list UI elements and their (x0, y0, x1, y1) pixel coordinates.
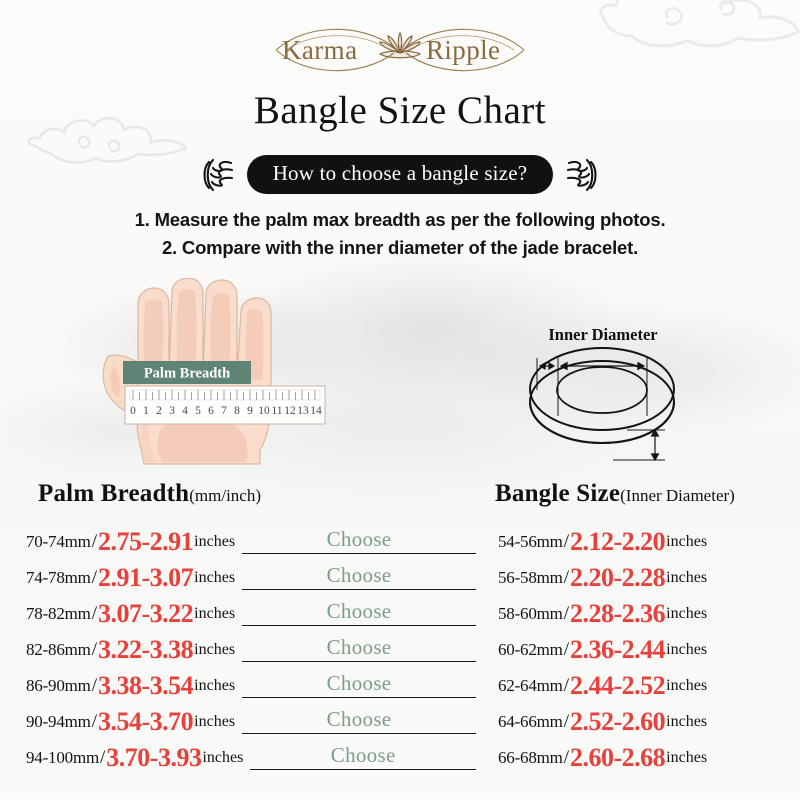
left_table-inch-value: 2.75-2.91 (98, 529, 193, 555)
lotus-icon (380, 33, 420, 58)
choose-underline (242, 697, 476, 698)
unit-label: inches (665, 605, 707, 623)
right_table-inch-value: 2.12-2.20 (570, 529, 665, 555)
table-row: 82-86mm/3.22-3.38inchesChoose (26, 632, 476, 668)
table-row: 66-68mm/2.60-2.68inches (492, 740, 792, 776)
choose-label[interactable]: Choose (327, 635, 392, 660)
svg-text:4: 4 (182, 405, 188, 417)
choose-label[interactable]: Choose (327, 527, 392, 552)
table-row: 60-62mm/2.36-2.44inches (492, 632, 792, 668)
flourish-ornament-left-icon (201, 156, 235, 194)
separator-slash: / (99, 747, 106, 769)
choose-underline (242, 661, 476, 662)
left_table-inch-value: 3.22-3.38 (98, 637, 193, 663)
instruction-step-1: 1. Measure the palm max breadth as per t… (0, 206, 800, 234)
brand-logo: Karma Ripple (0, 22, 800, 78)
svg-text:0: 0 (130, 405, 136, 417)
left_table-mm-value: 90-94mm (26, 712, 91, 732)
choose-underline (250, 769, 476, 770)
right_table-mm-value: 66-68mm (498, 748, 563, 768)
unit-label: inches (193, 641, 235, 659)
unit-label: inches (193, 713, 235, 731)
table-row: 62-64mm/2.44-2.52inches (492, 668, 792, 704)
svg-text:3: 3 (169, 405, 175, 417)
separator-slash: / (563, 531, 570, 553)
right_table-mm-value: 56-58mm (498, 568, 563, 588)
separator-slash: / (91, 567, 98, 589)
right-column-header: Bangle Size(Inner Diameter) (495, 480, 735, 508)
svg-text:14: 14 (310, 405, 322, 417)
left_table-mm-value: 70-74mm (26, 532, 91, 552)
subtitle-banner: How to choose a bangle size? (0, 155, 800, 194)
unit-label: inches (193, 533, 235, 551)
size-chart-page: Karma Ripple Bangle Size Chart (0, 0, 800, 800)
separator-slash: / (563, 747, 570, 769)
separator-slash: / (563, 675, 570, 697)
left-header-sub: (mm/inch) (189, 486, 261, 505)
svg-text:6: 6 (208, 405, 214, 417)
left_table-mm-value: 82-86mm (26, 640, 91, 660)
choose-field[interactable]: Choose (242, 635, 476, 665)
table-row: 56-58mm/2.20-2.28inches (492, 560, 792, 596)
table-row: 94-100mm/3.70-3.93inchesChoose (26, 740, 476, 776)
choose-underline (242, 589, 476, 590)
choose-field[interactable]: Choose (242, 707, 476, 737)
brand-word-2: Ripple (426, 35, 500, 65)
subtitle-pill: How to choose a bangle size? (247, 155, 554, 194)
left_table-mm-value: 94-100mm (26, 748, 99, 768)
right_table-inch-value: 2.60-2.68 (570, 745, 665, 771)
right-header-main: Bangle Size (495, 480, 620, 507)
bangle-size-table: 54-56mm/2.12-2.20inches56-58mm/2.20-2.28… (492, 524, 792, 776)
instruction-list: 1. Measure the palm max breadth as per t… (0, 206, 800, 262)
left-header-main: Palm Breadth (38, 480, 189, 507)
choose-label[interactable]: Choose (327, 599, 392, 624)
unit-label: inches (193, 677, 235, 695)
palm-breadth-label: Palm Breadth (123, 361, 251, 384)
choose-label[interactable]: Choose (327, 707, 392, 732)
unit-label: inches (665, 677, 707, 695)
unit-label: inches (201, 749, 243, 767)
left_table-inch-value: 2.91-3.07 (98, 565, 193, 591)
unit-label: inches (665, 533, 707, 551)
choose-field[interactable]: Choose (250, 743, 476, 773)
brand-logo-graphic: Karma Ripple (270, 21, 530, 79)
table-row: 54-56mm/2.12-2.20inches (492, 524, 792, 560)
ruler-graphic: 012 345 678 91011 121314 (125, 386, 325, 424)
right_table-mm-value: 54-56mm (498, 532, 563, 552)
separator-slash: / (91, 711, 98, 733)
table-row: 74-78mm/2.91-3.07inchesChoose (26, 560, 476, 596)
table-row: 78-82mm/3.07-3.22inchesChoose (26, 596, 476, 632)
left_table-inch-value: 3.70-3.93 (106, 745, 201, 771)
separator-slash: / (91, 639, 98, 661)
left_table-inch-value: 3.38-3.54 (98, 673, 193, 699)
right_table-inch-value: 2.36-2.44 (570, 637, 665, 663)
right_table-inch-value: 2.44-2.52 (570, 673, 665, 699)
svg-text:10: 10 (258, 405, 270, 417)
left_table-inch-value: 3.54-3.70 (98, 709, 193, 735)
right_table-inch-value: 2.20-2.28 (570, 565, 665, 591)
unit-label: inches (193, 605, 235, 623)
unit-label: inches (665, 569, 707, 587)
svg-text:11: 11 (271, 405, 282, 417)
left_table-mm-value: 78-82mm (26, 604, 91, 624)
choose-label[interactable]: Choose (327, 563, 392, 588)
brand-word-1: Karma (282, 35, 357, 65)
unit-label: inches (193, 569, 235, 587)
choose-label[interactable]: Choose (327, 671, 392, 696)
svg-text:7: 7 (221, 405, 227, 417)
choose-label[interactable]: Choose (331, 743, 396, 768)
left-column-header: Palm Breadth(mm/inch) (38, 480, 261, 508)
table-row: 58-60mm/2.28-2.36inches (492, 596, 792, 632)
separator-slash: / (91, 531, 98, 553)
left_table-inch-value: 3.07-3.22 (98, 601, 193, 627)
choose-field[interactable]: Choose (242, 599, 476, 629)
svg-text:8: 8 (234, 405, 240, 417)
svg-text:2: 2 (156, 405, 162, 417)
bangle-inner-diameter-illustration: Inner Diameter (495, 322, 725, 477)
svg-text:13: 13 (297, 405, 309, 417)
separator-slash: / (91, 675, 98, 697)
separator-slash: / (563, 711, 570, 733)
choose-underline (242, 625, 476, 626)
choose-field[interactable]: Choose (242, 563, 476, 593)
choose-underline (242, 553, 476, 554)
table-row: 90-94mm/3.54-3.70inchesChoose (26, 704, 476, 740)
svg-text:9: 9 (247, 405, 253, 417)
inner-diameter-label: Inner Diameter (548, 325, 657, 344)
svg-text:5: 5 (195, 405, 201, 417)
right_table-mm-value: 64-66mm (498, 712, 563, 732)
unit-label: inches (665, 749, 707, 767)
right_table-mm-value: 60-62mm (498, 640, 563, 660)
choose-field[interactable]: Choose (242, 671, 476, 701)
right_table-mm-value: 62-64mm (498, 676, 563, 696)
unit-label: inches (665, 641, 707, 659)
flourish-ornament-right-icon (565, 156, 599, 194)
svg-text:12: 12 (284, 405, 296, 417)
separator-slash: / (563, 639, 570, 661)
left_table-mm-value: 86-90mm (26, 676, 91, 696)
right-header-sub: (Inner Diameter) (620, 486, 735, 505)
page-title: Bangle Size Chart (0, 88, 800, 133)
right_table-mm-value: 58-60mm (498, 604, 563, 624)
svg-text:1: 1 (143, 405, 149, 417)
palm-breadth-label-text: Palm Breadth (144, 366, 230, 382)
left_table-mm-value: 74-78mm (26, 568, 91, 588)
table-row: 70-74mm/2.75-2.91inchesChoose (26, 524, 476, 560)
unit-label: inches (665, 713, 707, 731)
right_table-inch-value: 2.28-2.36 (570, 601, 665, 627)
separator-slash: / (563, 603, 570, 625)
choose-underline (242, 733, 476, 734)
instruction-step-2: 2. Compare with the inner diameter of th… (0, 234, 800, 262)
palm-breadth-table: 70-74mm/2.75-2.91inchesChoose74-78mm/2.9… (26, 524, 476, 776)
choose-field[interactable]: Choose (242, 527, 476, 557)
table-row: 86-90mm/3.38-3.54inchesChoose (26, 668, 476, 704)
table-row: 64-66mm/2.52-2.60inches (492, 704, 792, 740)
separator-slash: / (91, 603, 98, 625)
right_table-inch-value: 2.52-2.60 (570, 709, 665, 735)
hand-measurement-illustration: Palm Breadth 012 345 678 91011 121314 (100, 278, 350, 478)
separator-slash: / (563, 567, 570, 589)
